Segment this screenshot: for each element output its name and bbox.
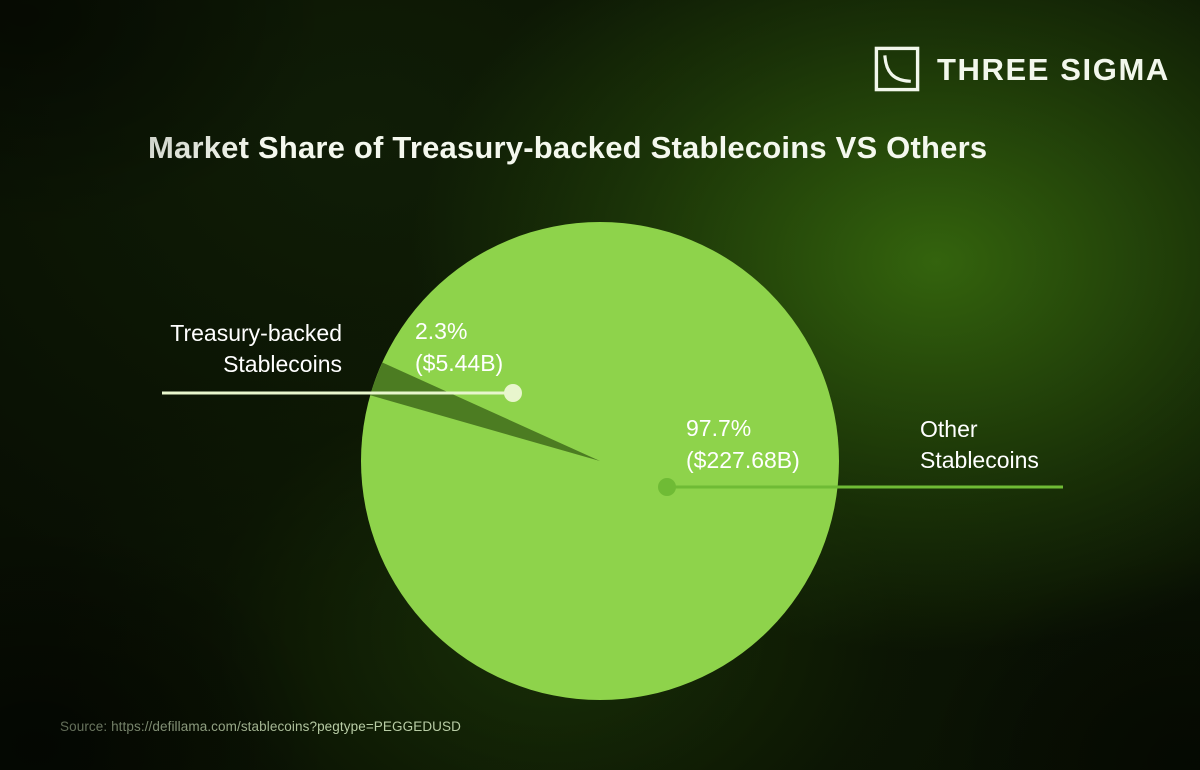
slice-label-line-2: Stablecoins: [152, 349, 342, 380]
slice-label-line-1: Treasury-backed: [152, 318, 342, 349]
slice-label-line-2: Stablecoins: [920, 445, 1120, 476]
source-attribution: Source: https://defillama.com/stablecoin…: [60, 719, 461, 734]
slice-amount-text: ($227.68B): [686, 444, 800, 476]
chart-canvas: THREE SIGMA Market Share of Treasury-bac…: [0, 0, 1200, 770]
slice-label-other-stablecoins: Other Stablecoins: [920, 414, 1120, 476]
slice-value-other-stablecoins: 97.7% ($227.68B): [686, 412, 800, 476]
pie-chart: [0, 0, 1200, 770]
slice-value-treasury-backed-stablecoins: 2.3% ($5.44B): [415, 315, 503, 379]
slice-percent-text: 97.7%: [686, 412, 800, 444]
leader-dot-right: [658, 478, 676, 496]
slice-percent-text: 2.3%: [415, 315, 503, 347]
slice-label-line-1: Other: [920, 414, 1120, 445]
leader-dot-left: [504, 384, 522, 402]
slice-label-treasury-backed-stablecoins: Treasury-backed Stablecoins: [152, 318, 342, 380]
slice-amount-text: ($5.44B): [415, 347, 503, 379]
